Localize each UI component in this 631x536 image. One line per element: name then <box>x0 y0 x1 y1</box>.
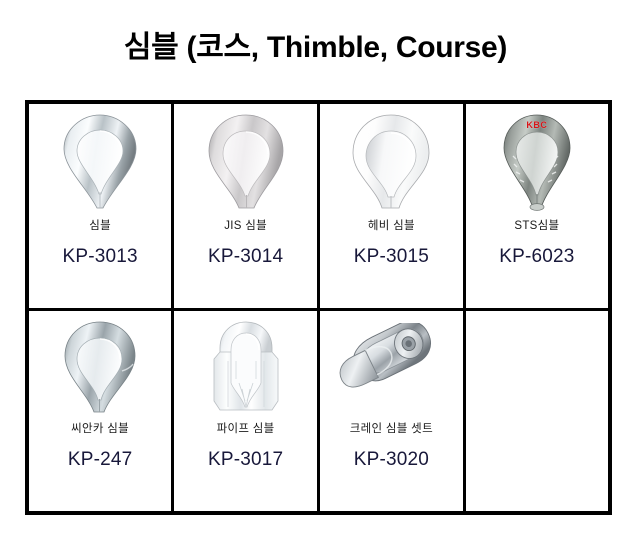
thimble-heavy-icon <box>350 112 432 212</box>
product-cell-kp-247[interactable]: 씨안카 심블 KP-247 <box>27 310 173 513</box>
product-code: KP-6023 <box>499 246 574 268</box>
product-name: JIS 심블 <box>224 217 267 233</box>
thimble-teardrop-icon <box>61 112 139 212</box>
page-title: 심블 (코스, Thimble, Course) <box>0 22 631 66</box>
product-cell-kp-6023[interactable]: KBC STS심블 KP-6023 <box>464 102 610 310</box>
product-image-kp-6023: KBC <box>466 104 608 212</box>
product-name: 씨안카 심블 <box>71 420 129 436</box>
thimble-pipe-icon <box>206 319 286 415</box>
product-cell-empty <box>464 310 610 513</box>
product-code: KP-3013 <box>62 246 137 268</box>
table-row: 심블 KP-3013 <box>27 102 610 310</box>
product-image-kp-3014 <box>174 104 317 212</box>
product-image-kp-3017 <box>174 311 317 415</box>
product-grid-table: 심블 KP-3013 <box>25 100 612 515</box>
brand-mark-kbc: KBC <box>526 120 547 130</box>
table-row: 씨안카 심블 KP-247 <box>27 310 610 513</box>
product-catalog-page: 심블 (코스, Thimble, Course) <box>0 0 631 536</box>
product-code: KP-247 <box>68 449 133 471</box>
thimble-seeanchor-icon <box>62 319 138 415</box>
product-cell-kp-3013[interactable]: 심블 KP-3013 <box>27 102 173 310</box>
product-code: KP-3014 <box>208 246 283 268</box>
product-name: 파이프 심블 <box>217 420 275 436</box>
product-code: KP-3020 <box>354 449 429 471</box>
product-name: STS심블 <box>514 217 559 233</box>
product-code: KP-3015 <box>354 246 429 268</box>
product-name: 심블 <box>89 217 111 233</box>
product-code: KP-3017 <box>208 449 283 471</box>
thimble-jis-icon <box>206 112 286 212</box>
product-image-kp-3020 <box>320 311 463 415</box>
product-name: 헤비 심블 <box>368 217 415 233</box>
product-cell-kp-3020[interactable]: 크레인 심블 셋트 KP-3020 <box>319 310 465 513</box>
product-cell-kp-3015[interactable]: 헤비 심블 KP-3015 <box>319 102 465 310</box>
product-name: 크레인 심블 셋트 <box>350 420 433 436</box>
product-cell-kp-3017[interactable]: 파이프 심블 KP-3017 <box>173 310 319 513</box>
product-cell-kp-3014[interactable]: JIS 심블 KP-3014 <box>173 102 319 310</box>
crane-thimble-set-icon <box>332 323 450 415</box>
product-image-kp-247 <box>29 311 171 415</box>
product-image-kp-3015 <box>320 104 463 212</box>
product-image-kp-3013 <box>29 104 171 212</box>
